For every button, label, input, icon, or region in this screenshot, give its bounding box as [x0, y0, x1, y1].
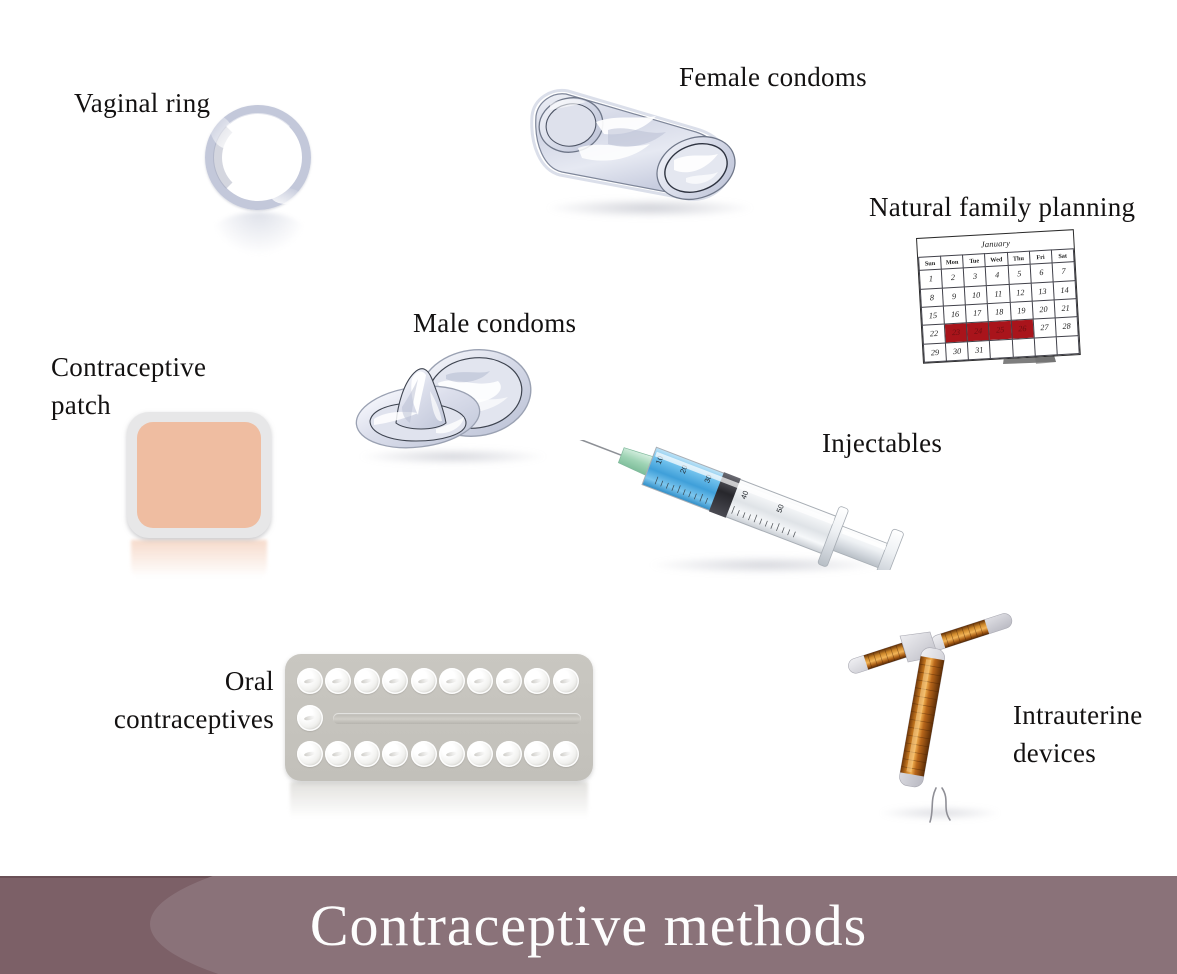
syringe-illustration: 10 20 30 40 50 [576, 440, 926, 570]
female-condom-illustration [500, 80, 770, 215]
vaginal-ring-reflection [212, 212, 306, 254]
calendar-illustration: January Sun Mon Tue Wed Thu Fri Sat 1 2 … [908, 232, 1108, 382]
calendar-day: 9 [942, 287, 965, 307]
blister-pack-illustration [285, 654, 593, 781]
page-title: Contraceptive methods [0, 876, 1177, 974]
calendar-weekday: Wed [985, 253, 1008, 267]
calendar-day-highlighted: 23 [945, 323, 968, 343]
pill [297, 705, 323, 731]
calendar-day: 5 [1008, 264, 1031, 284]
calendar-day-empty [1056, 335, 1079, 355]
pill [524, 668, 550, 694]
pill [325, 741, 351, 767]
calendar-day: 12 [1009, 283, 1032, 303]
pill [467, 741, 493, 767]
label-vaginal-ring: Vaginal ring [74, 84, 210, 122]
male-condom-illustration [340, 345, 560, 460]
calendar-day: 17 [966, 304, 989, 324]
calendar-day: 29 [923, 343, 946, 363]
calendar-face: January Sun Mon Tue Wed Thu Fri Sat 1 2 … [916, 229, 1081, 364]
calendar-day: 15 [921, 306, 944, 326]
calendar-day: 28 [1055, 317, 1078, 337]
calendar-day-highlighted: 24 [967, 322, 990, 342]
calendar-day: 2 [941, 268, 964, 288]
label-male-condoms: Male condoms [413, 304, 576, 342]
pill [297, 741, 323, 767]
calendar-day: 31 [968, 340, 991, 360]
pill [411, 668, 437, 694]
calendar-day: 21 [1054, 299, 1077, 319]
pill [382, 668, 408, 694]
calendar-day-empty [1012, 338, 1035, 358]
calendar-day: 16 [943, 305, 966, 325]
calendar-weekday: Sat [1051, 249, 1074, 263]
blister-bottom-row [297, 741, 581, 767]
blister-groove [333, 713, 581, 724]
footer-banner: Contraceptive methods [0, 876, 1177, 974]
patch-reflection [131, 540, 267, 586]
calendar-day: 19 [1010, 301, 1033, 321]
calendar-weekday: Sun [919, 257, 942, 271]
pill [411, 741, 437, 767]
calendar-weekday: Mon [941, 255, 964, 269]
calendar-day: 10 [965, 285, 988, 305]
calendar-day-empty [990, 339, 1013, 359]
blister-top-row [297, 668, 581, 694]
calendar-day-empty [1034, 336, 1057, 356]
vaginal-ring-illustration [205, 105, 311, 210]
pill [553, 741, 579, 767]
calendar-day: 30 [946, 341, 969, 361]
calendar-day: 22 [922, 324, 945, 344]
blister-pack-reflection [290, 782, 588, 826]
iud-illustration [838, 608, 1048, 823]
calendar-day: 8 [920, 288, 943, 308]
label-oral-contraceptives: Oral contraceptives [92, 662, 274, 739]
patch-adhesive-surface [137, 422, 261, 528]
calendar-day: 11 [987, 284, 1010, 304]
pill [354, 668, 380, 694]
pill [467, 668, 493, 694]
label-natural-family-planning: Natural family planning [869, 188, 1135, 226]
pill [439, 668, 465, 694]
pill [496, 668, 522, 694]
pill [382, 741, 408, 767]
pill [354, 741, 380, 767]
pill [439, 741, 465, 767]
calendar-weekday: Fri [1029, 250, 1052, 264]
vaginal-ring-highlight-bottom [271, 188, 301, 204]
blister-middle-row [297, 705, 325, 731]
calendar-day: 14 [1053, 280, 1076, 300]
calendar-day: 4 [986, 266, 1009, 286]
calendar-weekday: Tue [963, 254, 986, 268]
pill [524, 741, 550, 767]
calendar-day-highlighted: 25 [989, 321, 1012, 341]
calendar-day-highlighted: 26 [1011, 319, 1034, 339]
calendar-weekday: Thu [1007, 252, 1030, 266]
calendar-day: 20 [1032, 300, 1055, 320]
calendar-day: 27 [1033, 318, 1056, 338]
calendar-day: 3 [964, 267, 987, 287]
pill [297, 668, 323, 694]
poster-canvas: Vaginal ring Female condoms [0, 0, 1177, 974]
pill [496, 741, 522, 767]
calendar-day: 18 [988, 302, 1011, 322]
calendar-day: 6 [1030, 263, 1053, 283]
calendar-day: 13 [1031, 282, 1054, 302]
calendar-day: 7 [1052, 262, 1075, 282]
contraceptive-patch-illustration [127, 412, 271, 538]
pill [325, 668, 351, 694]
pill [553, 668, 579, 694]
calendar-day: 1 [919, 269, 942, 289]
